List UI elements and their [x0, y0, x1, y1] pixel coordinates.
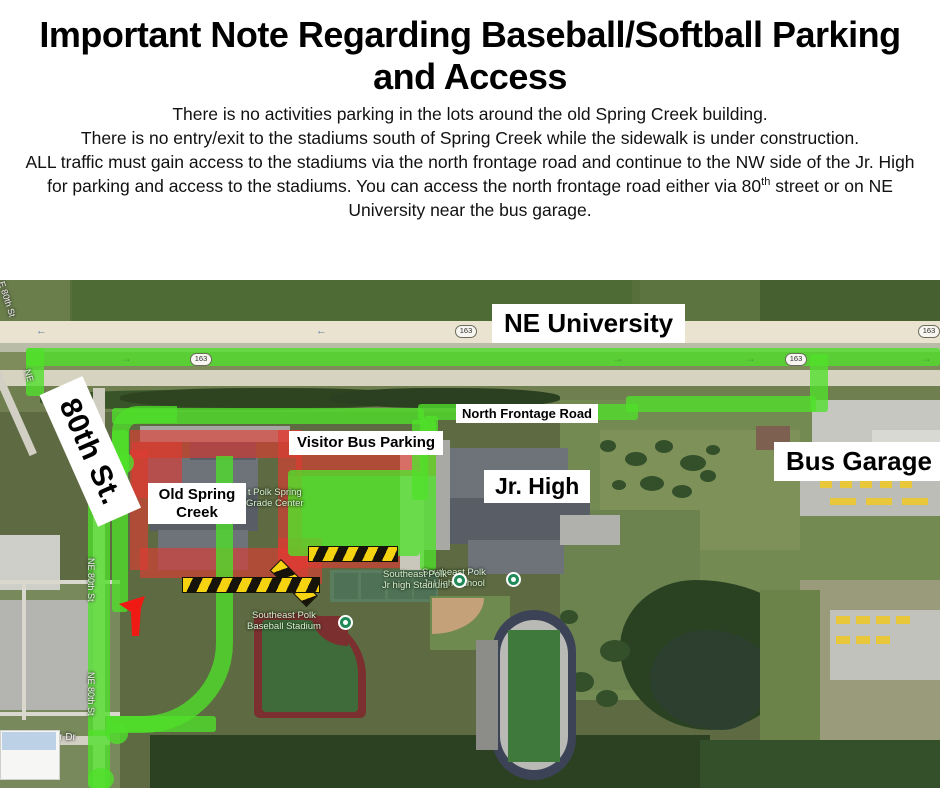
notice-paragraph: ALL traffic must gain access to the stad… [12, 151, 928, 223]
poi-pin-jr-high-stadium[interactable] [452, 573, 467, 588]
callout-old-spring-creek: Old Spring Creek [148, 483, 246, 524]
route-node-south-junction [106, 724, 128, 744]
aerial-map[interactable]: E 80th St NE NE 80th St NE 80th St NE 80… [0, 280, 940, 788]
callout-bus-garage: Bus Garage [774, 442, 940, 481]
page-title: Important Note Regarding Baseball/Softba… [12, 14, 928, 99]
notice-line-1: There is no activities parking in the lo… [12, 103, 928, 127]
red-arrow-annotation [115, 592, 157, 640]
highway-shield-163-c: 163 [455, 325, 477, 338]
callout-jr-high: Jr. High [484, 470, 590, 503]
notice-ordinal-suffix: th [761, 176, 770, 188]
direction-arrow-east-b: → [612, 352, 624, 364]
highway-shield-163-d: 163 [918, 325, 940, 338]
highway-shield-163-b: 163 [785, 353, 807, 366]
callout-north-frontage-road: North Frontage Road [456, 404, 598, 423]
route-north-frontage-road-jog [626, 396, 816, 412]
direction-arrow-east-a: → [120, 352, 132, 364]
callout-visitor-bus-parking: Visitor Bus Parking [289, 431, 443, 455]
direction-arrow-west-b: ← [316, 326, 327, 337]
notice-header: Important Note Regarding Baseball/Softba… [0, 0, 940, 229]
notice-line-2: There is no entry/exit to the stadiums s… [12, 127, 928, 151]
highway-shield-163-a: 163 [190, 353, 212, 366]
route-80th-street-west-leg [26, 348, 44, 396]
poi-pin-baseball-stadium[interactable] [338, 615, 353, 630]
construction-barrier-lower [182, 577, 320, 593]
direction-arrow-west-a: ← [36, 326, 47, 337]
route-grade-center-parking [288, 470, 420, 556]
map-streetview-thumb [2, 732, 56, 750]
poi-pin-jr-high-school[interactable] [506, 572, 521, 587]
callout-ne-university-label: NE University [492, 304, 685, 343]
direction-arrow-east-c: → [744, 352, 756, 364]
route-bus-garage-connector [810, 354, 828, 412]
construction-barrier-upper [308, 546, 398, 562]
route-node-south [88, 768, 114, 788]
direction-arrow-east-d: → [920, 352, 932, 364]
